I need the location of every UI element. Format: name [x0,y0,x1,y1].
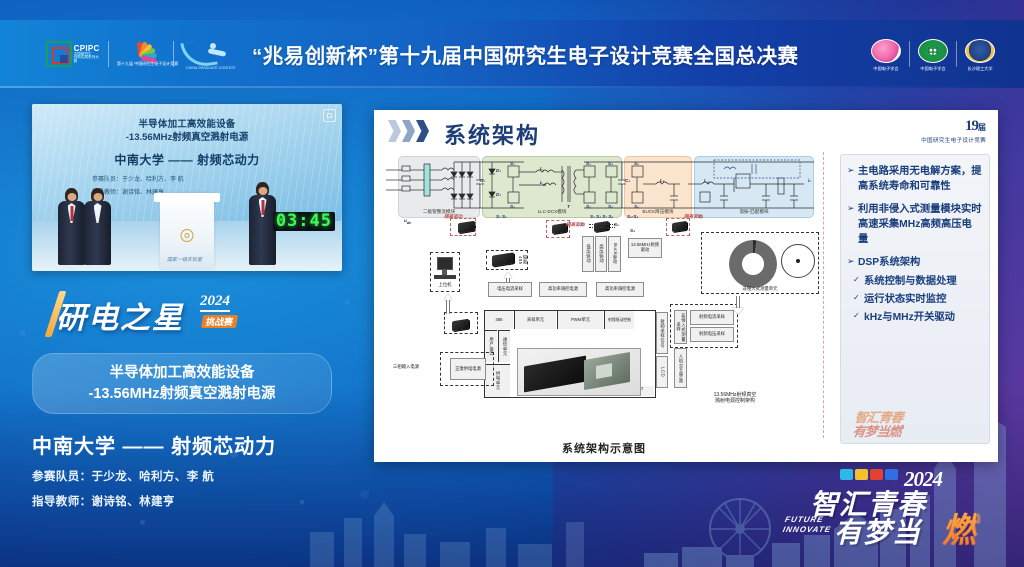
sampling-group-frame [670,304,738,348]
presenter-figure-speaking [249,182,276,265]
label-driver-note-2: 隔离驱动 [444,214,462,220]
sub-bullet-item: ✓ 系统控制与数据处理 [853,274,982,289]
presenter-tie [261,200,264,215]
component-label-c1: C₁ [480,178,485,183]
campaign-tagline-future: FUTURE [784,515,824,524]
campaign-tagline: FUTURE INNOVATE [782,515,834,534]
switch-label-s7: S₇ [586,204,591,209]
dsp-sub-485: 485 [485,311,513,329]
switch-label-s6: S₆ [634,204,639,209]
yandianzhixing-logo: 研电之星 2024 挑战赛 [32,293,342,339]
sub-bullet-item: ✓ kHz与MHz开关驱动 [853,310,982,325]
driver-box-2: 高压驱动 [595,236,607,272]
team-name: 中南大学 —— 射频芯动力 [32,430,342,459]
host-pc-label: 上位机 [433,280,457,290]
flow-arrow-shaft [506,278,510,282]
china-ieee-logo: 中国电子学会 [868,36,904,72]
left-info-sidebar: 半导体加工高效能设备 -13.56MHz射频真空溅射电源 中南大学 —— 射频芯… [32,104,342,509]
slide-header: 系统架构 19届 中国研究生电子设计竞赛 [374,110,998,152]
switch-label-s8: S₈ [608,204,613,209]
component-label-io: i₀ [808,178,811,183]
nineteenth-edition-caption: 第十九届 中国研究生电子设计竞赛 [117,61,178,67]
noninvasive-measurement-label: 非侵入式测量单元 [701,284,819,293]
city-skyline-secondary [300,472,630,567]
bullet-item: ➢ 利用非侵入式测量模块实时高速采集MHz高频高压电量 [847,202,982,247]
driver-bus-dots [589,224,615,228]
presenter-face [258,187,267,195]
logo-ring-icon [918,39,948,63]
bullet-marker-icon: ➢ [847,255,855,270]
presenter-figure [84,188,111,265]
switch-label-s5: S₅ [634,161,639,166]
probe-diagram-icon [781,244,815,278]
presentation-slide[interactable]: 系统架构 19届 中国研究生电子设计竞赛 二极管整流模块 LLC-DCX模块 [374,110,998,462]
dsp-board-photo [517,348,641,396]
sub-bullet-text: 运行状态实时监控 [864,292,946,307]
human-machine-interface-box: 人机交互界面 [674,348,687,388]
presenter-face [67,193,76,201]
presenter-tie [70,206,73,221]
component-label-d2: D₂ [496,192,501,197]
logo-dot [840,469,853,480]
badge-sup: 届 [978,123,986,132]
team-advisors: 指导教师：谢诗铭、林建亨 [32,493,342,509]
campaign-accent-char: 燃 [942,503,976,552]
switch-label-s3: S₃ [586,161,591,166]
campaign-tagline-innovate: INNOVATE [782,525,832,534]
project-topic-line2: -13.56MHz射频真空溅射电源 [43,384,321,405]
system-architecture-diagram: 二极管整流模块 LLC-DCX模块 BUCK降压模块 谐振-匹配模块 [384,152,824,438]
event-header-bar: CPIPC 中国研究生 创新实践系列大赛 第十九届 中国研究生电子设计竞赛 [0,20,1024,88]
power-regulation-box-1: 高功率调控电源 [539,282,587,297]
bullet-text: DSP系统架构 [858,255,920,270]
driver-dashed-frame [666,218,690,236]
driver-dashed-frame [450,218,476,236]
forward-supply-frame [440,352,494,386]
logo-label: 长沙理工大学 [962,66,998,72]
flow-arrow-shaft [736,296,740,308]
slide-watermark-line2: 有梦当燃 [852,425,984,439]
chevron-triple-icon [388,120,429,142]
logo-divider [108,41,109,67]
switch-label-s2: S₂ [510,204,515,209]
video-screen-team: 中南大学 —— 射频芯动力 [32,151,342,168]
project-topic-line1: 半导体加工高效能设备 [43,363,321,384]
logo-dot-row [840,469,898,480]
switch-label-s9-driver: S₉ [630,228,635,233]
dsp-sub-sampling: 采样单元 [514,311,556,329]
athlete-logo-caption: CHINA GRADUATE CONTEST [186,66,236,70]
rf-sampling-side-label: 射频采样信号 [656,312,668,354]
bullet-marker-icon: ➢ [847,164,855,194]
isolation-485-label: 隔离485 [517,250,527,270]
presenter-torso [58,201,85,265]
host-pc-monitor-icon [437,257,453,270]
driver-box-buck: Buck驱动 [608,236,621,272]
countdown-timer: 03:45 [273,212,335,231]
video-screen-title-line1: 半导体加工高效能设备 [32,116,342,130]
control-architecture-note: 13.56MHz射频真空溅射电源控制架构 [680,390,790,406]
bokeh-dot [20,330,26,336]
key-points-panel: ➢ 主电路采用无电解方案，提高系统寿命和可靠性 ➢ 利用非侵入式测量模块实时高速… [840,154,990,444]
presentation-stage: CPIPC 中国研究生 创新实践系列大赛 第十九届 中国研究生电子设计竞赛 [0,0,1024,567]
component-label-l6: L₆ [660,178,665,183]
cpipc-logo: CPIPC 中国研究生 创新实践系列大赛 [46,37,102,71]
podium-emblem-icon [181,229,194,242]
badge-text: 中国研究生电子设计竞赛 [921,136,986,144]
check-icon: ✓ [853,292,861,307]
presenter-shirt [94,203,102,223]
dsp-board-left [524,356,586,393]
university-shield-logo: 长沙理工大学 [962,36,998,72]
voltage-current-sampling-box: 电压电流采样 [488,282,532,297]
athlete-swoosh-logo: CHINA GRADUATE CONTEST [180,37,232,71]
logo-dot [855,469,868,480]
camera-watermark-icon [323,109,336,122]
bullet-item: ➢ DSP系统架构 [847,255,982,270]
component-label-lc: LC [704,178,710,185]
power-dashed-frame [444,312,478,334]
bullet-text: 利用非侵入式测量模块实时高速采集MHz高频高压电量 [858,202,982,247]
logo-dot [870,469,883,480]
header-right-logos: 中国电子学会 中国电子学会 长沙理工大学 [868,36,998,72]
logo-divider [909,41,910,67]
slide-watermark: 智汇青春 有梦当燃 [850,411,985,444]
label-driver-note-3: 隔离驱动 [684,214,702,220]
slide-title: 系统架构 [444,118,540,150]
badge-number-value: 19 [965,118,978,134]
component-label-lm: Lm [540,180,546,187]
driver-box-1: 低压驱动 [582,236,594,272]
project-topic-pill: 半导体加工高效能设备 -13.56MHz射频真空溅射电源 [32,353,332,414]
bullet-text: 主电路采用无电解方案，提高系统寿命和可靠性 [858,164,982,194]
label-udc: udc [404,218,411,225]
dsp-board-right [584,352,630,390]
bokeh-dot [345,300,350,305]
flow-arrow-shaft [446,300,450,314]
event-title: “兆易创新杯”第十九届中国研究生电子设计竞赛全国总决赛 [252,39,799,69]
cpipc-wordmark: CPIPC 中国研究生 创新实践系列大赛 [74,45,102,64]
dsp-sub-rf-driver-control: 射频驱动控制 [604,311,634,329]
flow-arrow-down [732,308,744,314]
logo-underline [200,310,230,312]
video-screen-title-line2: -13.56MHz射频真空溅射电源 [32,129,342,143]
component-label-t: T [567,204,570,209]
sub-bullet-item: ✓ 运行状态实时监控 [853,292,982,307]
bokeh-dot [140,520,145,525]
sub-bullet-text: kHz与MHz开关驱动 [864,310,955,325]
logo-tag: 挑战赛 [201,315,238,328]
logo-label: 中国电子学会 [868,66,904,72]
rf-driver-box: 13.56MHz射频驱动 [628,238,662,258]
component-label-c2: C₂ [625,178,630,183]
host-pc-keyboard-icon [434,275,456,279]
presenter-torso [249,195,276,265]
cpipc-mark-icon [46,41,72,67]
logo-divider [956,41,957,67]
bokeh-dot [360,490,369,499]
toroid-coil-photo [729,240,777,288]
diagram-caption: 系统架构示意图 [384,440,824,456]
bullet-marker-icon: ➢ [847,202,855,247]
video-screen-members: 参赛队员：于少龙、哈利方、李 航 [92,174,184,183]
header-left-logos: CPIPC 中国研究生 创新实践系列大赛 第十九届 中国研究生电子设计竞赛 [46,37,232,71]
legend-s1s2: S₁ S₂ [496,214,507,219]
check-icon: ✓ [853,274,861,289]
podium-signature: 国家一级实验室 [167,256,202,263]
nineteenth-edition-logo: 第十九届 中国研究生电子设计竞赛 [115,37,167,71]
campaign-logo: 2024 智汇青春 有梦当 燃 FUTURE INNOVATE [778,467,988,545]
component-label-d1: D₁ [496,168,501,173]
logo-label: 中国电子学会 [915,66,951,72]
cie-circle-logo: 中国电子学会 [915,36,951,72]
logo-ring-icon [871,39,901,63]
switch-label-s4: S₄ [608,161,613,166]
podium: 国家一级实验室 [160,193,214,269]
logo-ring-icon [965,39,995,63]
live-video-feed[interactable]: 半导体加工高效能设备 -13.56MHz射频真空溅射电源 中南大学 —— 射频芯… [32,104,342,271]
label-driver-note-1: 隔离驱动 [566,222,584,228]
dsp-sub-comm-unit: 通信单元 [498,330,510,362]
logo-year: 2024 [200,293,230,310]
presenter-face [93,193,102,201]
lcd-side-label: LCD [656,356,668,388]
legend-s3s8: S₃ S₄ S₇ S₈ [590,214,613,219]
bullet-item: ➢ 主电路采用无电解方案，提高系统寿命和可靠性 [847,164,982,194]
dsp-sub-pwm: PWM单元 [557,311,603,329]
team-members: 参赛队员：于少龙、哈利方、李 航 [32,468,342,484]
presenter-figure [58,188,85,265]
three-phase-input-label: 三相输入电源 [386,362,426,372]
power-regulation-box-2: 高功率调控电源 [596,282,644,297]
slide-watermark-line1: 智汇青春 [854,411,986,425]
competition-badge: 19届 中国研究生电子设计竞赛 [921,118,986,144]
switch-label-s1: S₁ [510,161,515,166]
campaign-line2: 有梦当 [834,511,921,551]
presenter-torso [84,201,111,265]
badge-number: 19届 [921,118,986,135]
slide-body: 二极管整流模块 LLC-DCX模块 BUCK降压模块 谐振-匹配模块 [374,152,998,462]
component-label-lr: Lr [540,166,544,173]
cpipc-line2: 创新实践系列大赛 [74,56,102,63]
check-icon: ✓ [853,310,861,325]
logo-text-zh: 研电之星 [56,302,184,335]
sub-bullet-text: 系统控制与数据处理 [864,274,957,289]
logo-dot [885,469,898,480]
legend-s5s8: S₅-S₈ [627,214,638,219]
